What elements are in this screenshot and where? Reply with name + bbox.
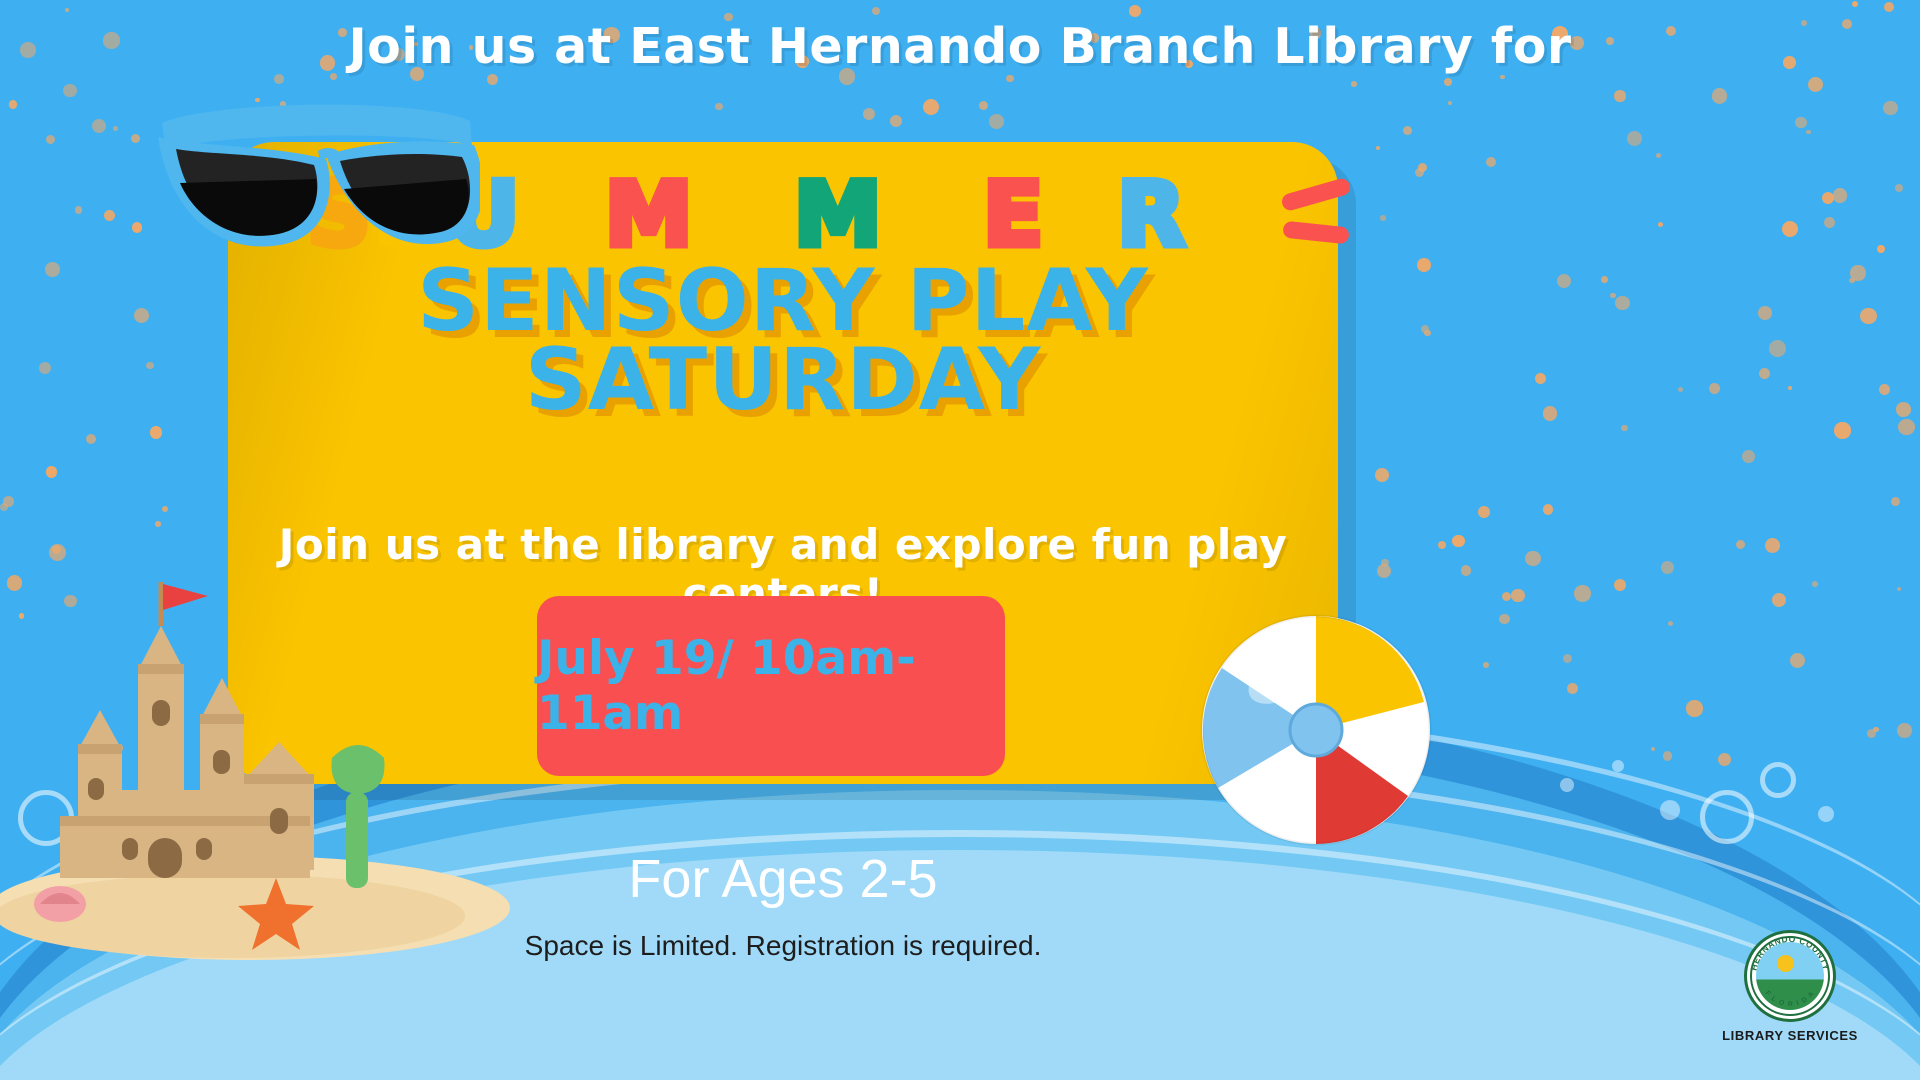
confetti-dot: [1860, 308, 1876, 324]
confetti-dot: [146, 362, 154, 370]
confetti-dot: [113, 126, 117, 130]
confetti-dot: [9, 100, 18, 109]
confetti-dot: [1129, 5, 1141, 17]
confetti-dot: [1782, 221, 1798, 237]
confetti-dot: [1438, 541, 1446, 549]
hernando-county-seal-icon: HERNANDO COUNTY F L O R I D A: [1744, 930, 1836, 1022]
summer-letter-m-2: MM: [601, 171, 790, 259]
sunglasses-icon: [150, 95, 480, 260]
confetti-dot: [1898, 419, 1914, 435]
date-time-badge: July 19/ 10am-11am: [537, 596, 1005, 776]
confetti-dot: [150, 426, 163, 439]
summer-letter-m-3: MM: [790, 171, 979, 259]
confetti-dot: [1686, 700, 1702, 716]
confetti-dot: [487, 74, 498, 85]
confetti-dot: [1614, 579, 1626, 591]
confetti-dot: [45, 262, 60, 277]
confetti-dot: [3, 496, 14, 507]
svg-text:F L O R I D A: F L O R I D A: [1764, 990, 1817, 1008]
bubble-icon: [1760, 762, 1796, 798]
confetti-dot: [1543, 504, 1553, 514]
confetti-dot: [39, 362, 51, 374]
confetti-dot: [274, 74, 284, 84]
confetti-dot: [890, 115, 902, 127]
confetti-dot: [1351, 81, 1357, 87]
confetti-dot: [63, 84, 77, 98]
confetti-dot: [1557, 274, 1571, 288]
bubble-icon: [1560, 778, 1574, 792]
confetti-dot: [104, 210, 115, 221]
confetti-dot: [1850, 265, 1865, 280]
confetti-dot: [979, 101, 988, 110]
confetti-dot: [1615, 296, 1630, 311]
confetti-dot: [1377, 564, 1391, 578]
heading-line-2: SATURDAY: [228, 341, 1338, 420]
confetti-dot: [1834, 422, 1850, 438]
confetti-dot: [1500, 75, 1504, 79]
bubble-icon: [1700, 790, 1754, 844]
confetti-dot: [1877, 245, 1884, 252]
confetti-dot: [1891, 497, 1900, 506]
poster-canvas: Join us at East Hernando Branch Library …: [0, 0, 1920, 1080]
confetti-dot: [1765, 538, 1780, 553]
bubble-icon: [1660, 800, 1680, 820]
confetti-dot: [715, 103, 722, 110]
bubble-icon: [1612, 760, 1624, 772]
summer-letter-r-5: RR: [1113, 171, 1263, 259]
confetti-dot: [1712, 88, 1728, 104]
svg-text:HERNANDO COUNTY: HERNANDO COUNTY: [1748, 934, 1831, 972]
confetti-dot: [1896, 402, 1910, 416]
confetti-dot: [989, 114, 1004, 129]
confetti-dot: [155, 521, 161, 527]
confetti-dot: [1879, 384, 1890, 395]
confetti-dot: [1478, 506, 1490, 518]
confetti-dot: [1461, 565, 1471, 575]
confetti-dot: [1897, 723, 1912, 738]
confetti-dot: [1380, 215, 1386, 221]
confetti-dot: [1769, 340, 1786, 357]
confetti-dot: [1444, 78, 1452, 86]
beach-ball-icon: [1196, 610, 1436, 850]
confetti-dot: [1656, 153, 1661, 158]
confetti-dot: [1452, 535, 1464, 547]
confetti-dot: [1621, 425, 1628, 432]
logo-caption: LIBRARY SERVICES: [1700, 1028, 1880, 1043]
sandcastle-icon: [0, 560, 520, 960]
confetti-dot: [49, 544, 66, 561]
confetti-dot: [92, 119, 107, 134]
confetti-dot: [1790, 653, 1805, 668]
confetti-dot: [46, 466, 57, 477]
confetti-dot: [1812, 581, 1818, 587]
page-title: Join us at East Hernando Branch Library …: [0, 18, 1920, 75]
confetti-dot: [1424, 330, 1431, 337]
library-logo: HERNANDO COUNTY F L O R I D A LIBRARY SE…: [1700, 930, 1880, 1060]
confetti-dot: [1511, 589, 1525, 603]
date-time-text: July 19/ 10am-11am: [537, 631, 1005, 741]
confetti-dot: [1795, 117, 1806, 128]
confetti-dot: [1806, 130, 1810, 134]
bubble-icon: [1818, 806, 1834, 822]
confetti-dot: [1574, 585, 1591, 602]
confetti-dot: [1668, 621, 1673, 626]
event-heading: SENSORY PLAY SATURDAY: [228, 262, 1338, 420]
confetti-dot: [1502, 592, 1511, 601]
confetti-dot: [1006, 75, 1014, 83]
confetti-dot: [1883, 101, 1897, 115]
confetti-dot: [1601, 276, 1608, 283]
confetti-dot: [1658, 222, 1663, 227]
confetti-dot: [1417, 258, 1431, 272]
confetti-dot: [1663, 751, 1672, 760]
confetti-dot: [1742, 450, 1755, 463]
confetti-dot: [1610, 293, 1615, 298]
sun-rays-right-icon: [1281, 170, 1338, 260]
confetti-dot: [1614, 90, 1626, 102]
confetti-dot: [1499, 614, 1509, 624]
confetti-dot: [1375, 468, 1389, 482]
confetti-dot: [1873, 727, 1878, 732]
confetti-dot: [923, 99, 939, 115]
confetti-dot: [1627, 131, 1642, 146]
summer-letter-e-4: EE: [979, 171, 1113, 259]
confetti-dot: [132, 222, 143, 233]
